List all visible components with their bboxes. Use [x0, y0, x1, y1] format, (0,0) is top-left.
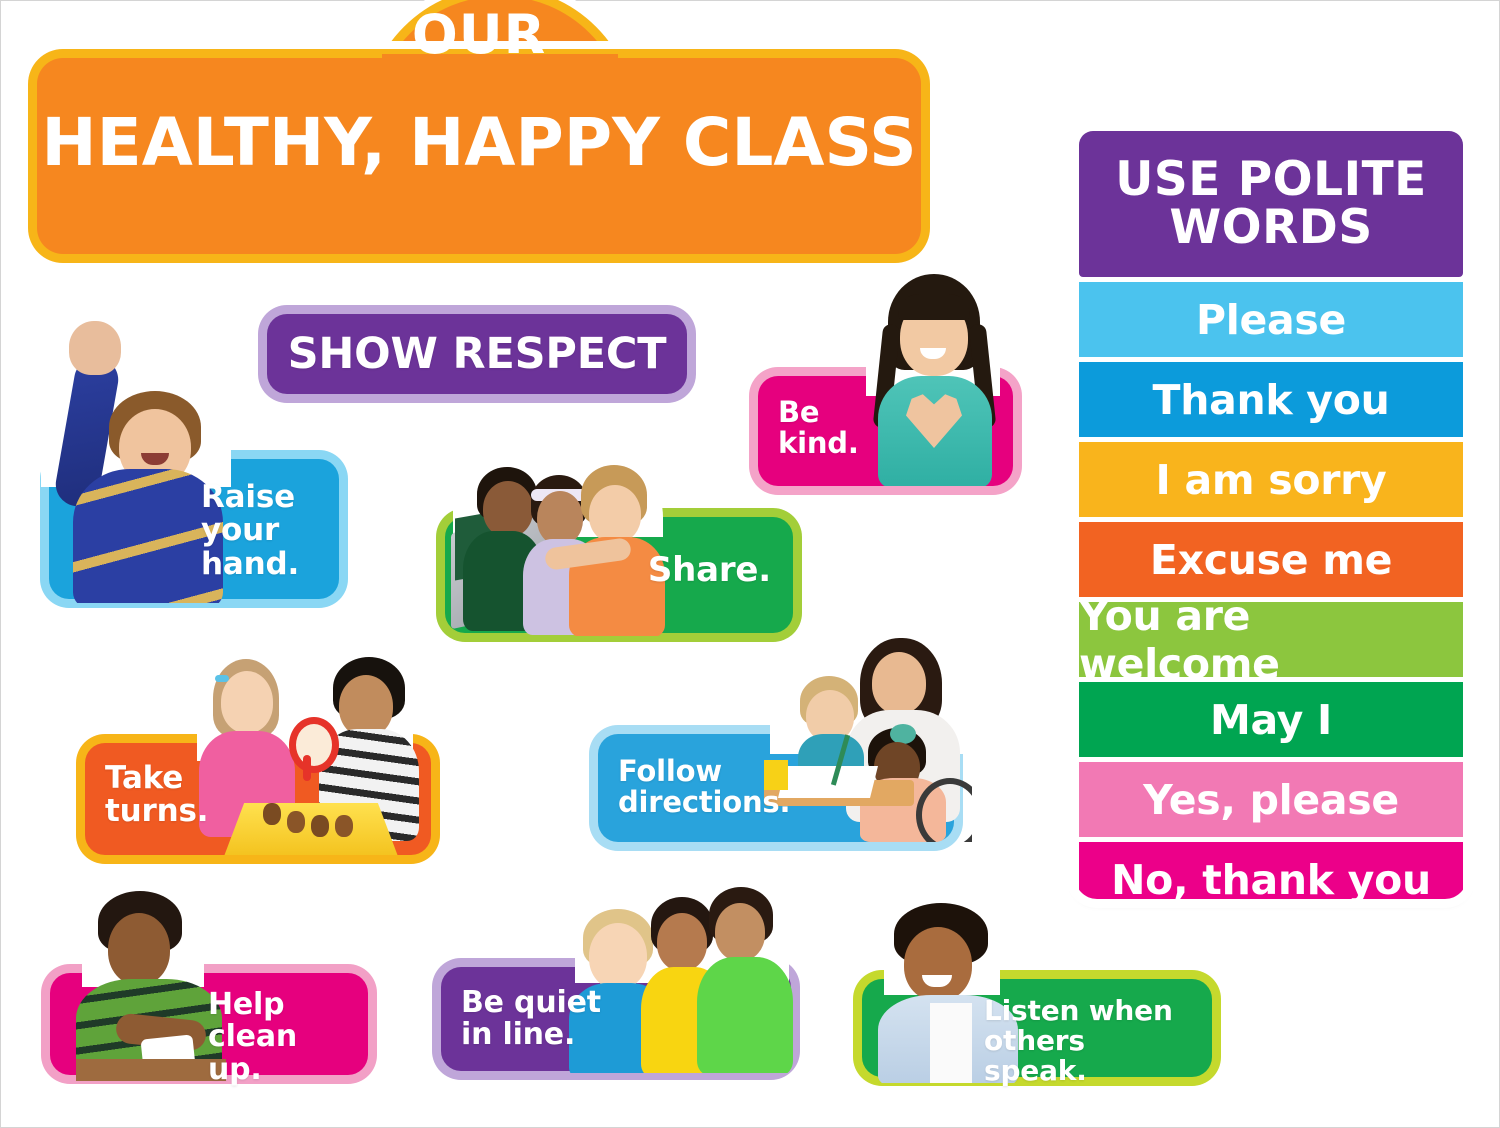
pinecone-3 [311, 815, 329, 837]
kid2-face [537, 491, 583, 545]
teacher-face [872, 652, 926, 714]
title-small-word: OUR [37, 3, 921, 66]
polite-word-row-please: Please [1079, 282, 1463, 357]
white-undershirt [930, 1003, 972, 1083]
rule-card-raise-your-hand: Raise your hand. [49, 459, 339, 599]
pinecone-1 [263, 803, 281, 825]
photo-teacher-helping-students [764, 638, 972, 842]
kid3-face [589, 485, 641, 543]
rule-label-be-kind: Be kind. [778, 397, 859, 460]
photo-two-kids-pinecones [193, 655, 425, 855]
rule-label-follow-directions: Follow directions. [618, 756, 790, 819]
polite-word-row-excuse-me: Excuse me [1079, 522, 1463, 597]
rule-label-raise-your-hand: Raise your hand. [201, 481, 321, 581]
rule-card-be-kind: Be kind. [758, 376, 1013, 486]
photo-boy-raising-hand [47, 313, 225, 603]
rule-card-share: Share. [445, 517, 793, 633]
kid-blonde-face [589, 923, 647, 989]
polite-word-row-thank-you: Thank you [1079, 362, 1463, 437]
girl-bangs [898, 294, 970, 320]
bulletin-board-poster: OUR HEALTHY, HAPPY CLASS SHOW RESPECT US… [1, 1, 1499, 1127]
rule-label-be-quiet-in-line: Be quiet in line. [461, 987, 601, 1052]
kid-yellow-face [657, 913, 707, 971]
table-surface [76, 1059, 226, 1081]
paper-sheet [778, 766, 878, 798]
polite-word-row-yes-please: Yes, please [1079, 762, 1463, 837]
rule-card-be-quiet-in-line: Be quiet in line. [441, 967, 791, 1071]
polite-word-row-no-thank-you: No, thank you [1079, 842, 1463, 899]
polite-word-row-may-i: May I [1079, 682, 1463, 757]
boy-face-3 [108, 913, 170, 985]
magnifying-glass [289, 717, 339, 773]
student2-headband [890, 724, 916, 744]
rule-label-take-turns: Take turns. [105, 762, 208, 829]
kid-green-tshirt [697, 957, 793, 1073]
rule-card-help-clean-up: Help clean up. [50, 973, 368, 1075]
rule-label-help-clean-up: Help clean up. [208, 989, 346, 1086]
raised-fist [69, 321, 121, 375]
show-respect-label: SHOW RESPECT [267, 331, 687, 377]
rule-label-share: Share. [648, 552, 771, 589]
girl-face-2 [221, 671, 273, 733]
rule-card-take-turns: Take turns. [85, 743, 431, 855]
show-respect-banner: SHOW RESPECT [267, 314, 687, 394]
rule-card-follow-directions: Follow directions. [598, 734, 954, 842]
boy-face-2 [339, 675, 393, 737]
kid-green-face [715, 903, 765, 961]
polite-word-row-you-are-welcome: You are welcome [1079, 602, 1463, 677]
rule-label-listen-when-others-speak: Listen when others speak. [984, 996, 1194, 1087]
photo-girl-heart-hands [870, 272, 998, 486]
kid1-face [483, 481, 533, 537]
photo-three-kids-laptop [449, 461, 679, 636]
poster-title-banner: OUR HEALTHY, HAPPY CLASS [37, 58, 921, 254]
magnifier-handle [303, 755, 311, 781]
rule-card-listen-when-others-speak: Listen when others speak. [862, 979, 1212, 1077]
photo-three-kids-standing [569, 887, 795, 1073]
polite-words-header: USE POLITE WORDS [1079, 131, 1463, 277]
hair-clip [215, 675, 229, 682]
pinecone-4 [335, 815, 353, 837]
listening-boy-face [904, 927, 972, 1001]
polite-word-row-i-am-sorry: I am sorry [1079, 442, 1463, 517]
pinecone-2 [287, 811, 305, 833]
page-title: HEALTHY, HAPPY CLASS [37, 104, 921, 181]
use-polite-words-chart: USE POLITE WORDS Please Thank you I am s… [1075, 127, 1467, 899]
photo-boy-wiping-table [76, 891, 226, 1081]
